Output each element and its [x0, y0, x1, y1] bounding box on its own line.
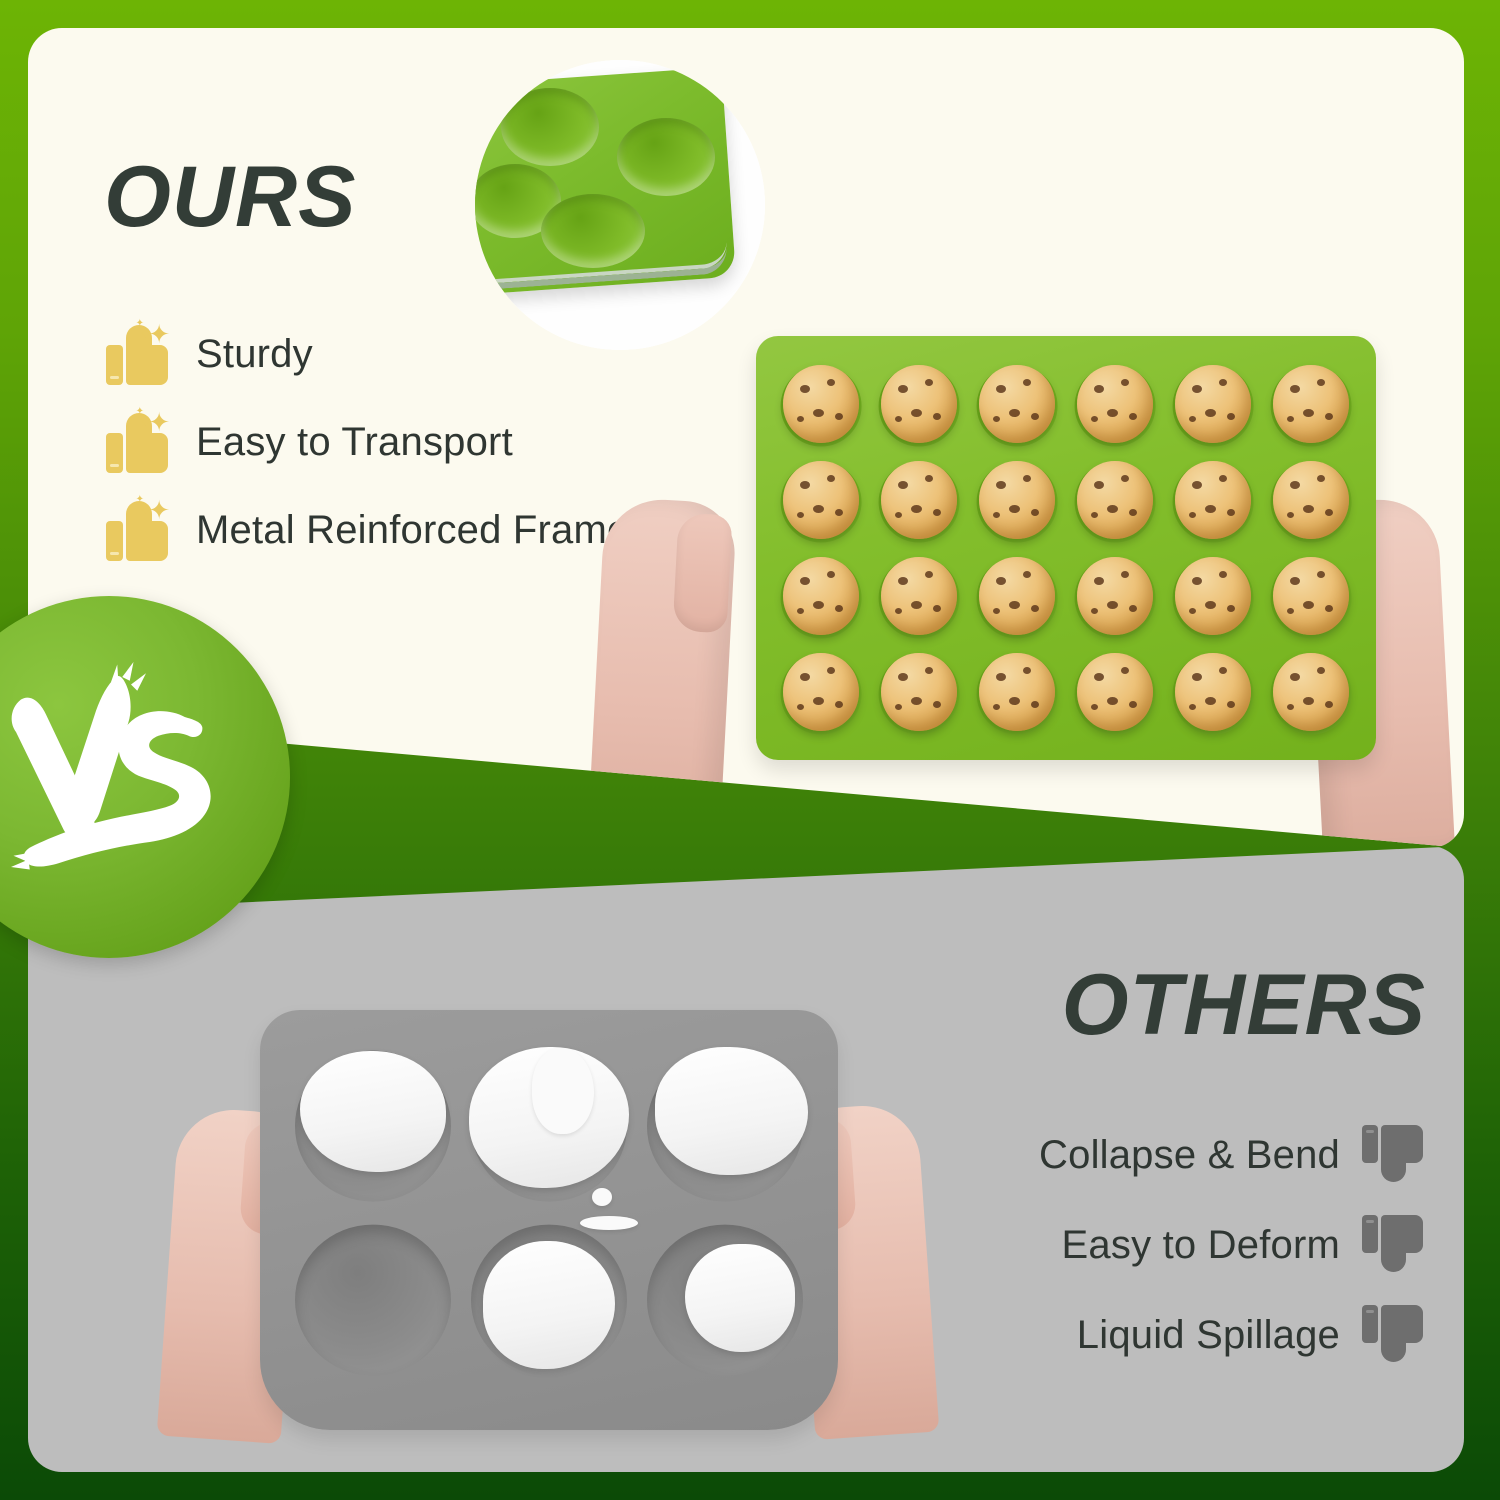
thumbs-up-icon: ✦✦✦ [106, 323, 172, 385]
others-title: OTHERS [1062, 962, 1426, 1048]
tray-cavity [290, 1218, 456, 1382]
drawback-row: Collapse & Bend [804, 1110, 1424, 1200]
drawback-label: Collapse & Bend [1039, 1133, 1340, 1178]
muffin-cup [872, 358, 966, 450]
muffin [1077, 365, 1152, 442]
muffin [783, 557, 858, 634]
thumbs-up-icon: ✦✦✦ [106, 499, 172, 561]
others-drawback-list: Collapse & Bend Easy to Deform Liquid Sp… [804, 1110, 1424, 1380]
muffin-cup [774, 646, 868, 738]
tray-closeup-image [475, 60, 765, 350]
muffin [1175, 461, 1250, 538]
thumbs-down-icon [1362, 1305, 1424, 1365]
muffin-cup [774, 358, 868, 450]
muffin-cup [1264, 646, 1358, 738]
muffin-cup [872, 550, 966, 642]
muffin-cup [1166, 358, 1260, 450]
green-muffin-tray [756, 336, 1376, 760]
muffin-cup [1166, 646, 1260, 738]
drawback-row: Easy to Deform [804, 1200, 1424, 1290]
muffin-cup [1264, 454, 1358, 546]
muffin [783, 653, 858, 730]
muffin-cup [1166, 454, 1260, 546]
feature-label: Sturdy [196, 332, 313, 377]
ours-product-image [588, 324, 1448, 848]
hand-left [587, 497, 737, 848]
muffin-cup [970, 646, 1064, 738]
spilled-batter [685, 1244, 795, 1352]
muffin-cup [1068, 646, 1162, 738]
muffin-cup [1068, 358, 1162, 450]
thumbs-up-icon: ✦✦✦ [106, 411, 172, 473]
spilled-batter [483, 1241, 616, 1369]
muffin-cup [1068, 454, 1162, 546]
drawback-label: Liquid Spillage [1077, 1313, 1340, 1358]
spilled-batter [300, 1051, 446, 1172]
muffin [783, 461, 858, 538]
muffin [881, 461, 956, 538]
gray-muffin-tray [260, 1010, 838, 1430]
muffin [881, 365, 956, 442]
muffin [979, 365, 1054, 442]
closeup-cavity [501, 88, 599, 166]
feature-label: Easy to Transport [196, 420, 513, 465]
muffin [979, 653, 1054, 730]
closeup-cavity [617, 118, 715, 196]
feature-label: Metal Reinforced Frame [196, 508, 629, 553]
muffin-cup [970, 358, 1064, 450]
batter-spill [532, 1048, 594, 1134]
muffin-cup [1068, 550, 1162, 642]
muffin [1175, 365, 1250, 442]
muffin-cup [970, 550, 1064, 642]
muffin [1273, 557, 1348, 634]
muffin [1273, 365, 1348, 442]
muffin [1175, 653, 1250, 730]
muffin [881, 653, 956, 730]
tray-cavity [642, 1044, 808, 1208]
thumbs-down-icon [1362, 1125, 1424, 1185]
spilled-batter [655, 1047, 808, 1175]
muffin [1077, 653, 1152, 730]
muffin-cup [1166, 550, 1260, 642]
muffin [1273, 461, 1348, 538]
muffin [979, 461, 1054, 538]
muffin [1175, 557, 1250, 634]
muffin [783, 365, 858, 442]
muffin [979, 557, 1054, 634]
muffin [1273, 653, 1348, 730]
muffin-cup [774, 550, 868, 642]
tray-cavity [290, 1044, 456, 1208]
muffin-cup [1264, 358, 1358, 450]
muffin-cup [1264, 550, 1358, 642]
muffin-cup [872, 454, 966, 546]
muffin-cup [872, 646, 966, 738]
muffin [1077, 461, 1152, 538]
thumbs-down-icon [1362, 1215, 1424, 1275]
drawback-label: Easy to Deform [1062, 1223, 1340, 1268]
muffin [881, 557, 956, 634]
tray-cavity [642, 1218, 808, 1382]
batter-drip [580, 1216, 638, 1230]
muffin-cup [970, 454, 1064, 546]
ours-title: OURS [104, 154, 356, 240]
drawback-row: Liquid Spillage [804, 1290, 1424, 1380]
tray-cavity [466, 1218, 632, 1382]
muffin-cup [774, 454, 868, 546]
batter-droplet [592, 1188, 612, 1206]
muffin [1077, 557, 1152, 634]
vs-brush-icon [0, 652, 241, 902]
